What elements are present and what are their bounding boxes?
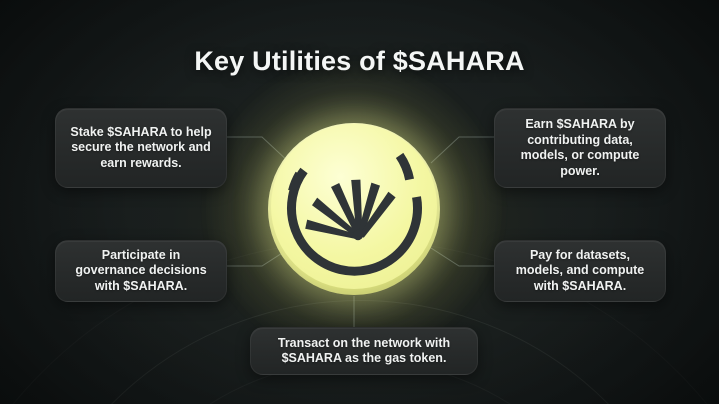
utility-card-governance[interactable]: Participate in governance decisions with… bbox=[55, 240, 227, 302]
sahara-coin-logo bbox=[268, 123, 440, 295]
utility-card-governance-text: Participate in governance decisions with… bbox=[66, 248, 216, 295]
sahara-rays bbox=[305, 180, 395, 241]
connector-earn bbox=[431, 137, 494, 163]
utility-card-earn[interactable]: Earn $SAHARA by contributing data, model… bbox=[494, 108, 666, 188]
utility-card-pay-text: Pay for datasets, models, and compute wi… bbox=[505, 248, 655, 295]
utility-card-pay[interactable]: Pay for datasets, models, and compute wi… bbox=[494, 240, 666, 302]
utility-card-gas[interactable]: Transact on the network with $SAHARA as … bbox=[250, 327, 478, 375]
page-title: Key Utilities of $SAHARA bbox=[0, 46, 719, 77]
connector-pay bbox=[431, 248, 494, 266]
sahara-mark-icon bbox=[268, 123, 440, 295]
infographic-stage: Key Utilities of $SAHARA bbox=[0, 0, 719, 404]
utility-card-stake[interactable]: Stake $SAHARA to help secure the network… bbox=[55, 108, 227, 188]
utility-card-stake-text: Stake $SAHARA to help secure the network… bbox=[66, 125, 216, 172]
utility-card-gas-text: Transact on the network with $SAHARA as … bbox=[261, 336, 467, 367]
utility-card-earn-text: Earn $SAHARA by contributing data, model… bbox=[505, 117, 655, 179]
